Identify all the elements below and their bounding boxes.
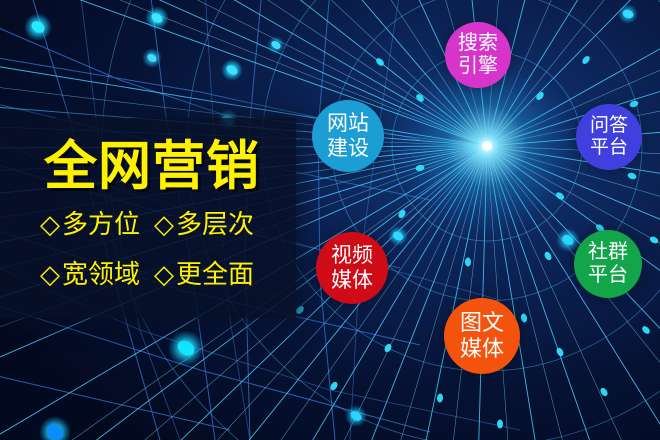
bubble-search-engine-line2: 引擎	[458, 55, 498, 78]
diamond-bullet-icon: ◇	[40, 259, 60, 289]
bubble-search-engine[interactable]: 搜索 引擎	[445, 22, 511, 88]
bubble-graphic-media-line1: 图文	[460, 310, 504, 336]
page-title: 全网营销	[44, 138, 260, 196]
bubble-website-build-line2: 建设	[327, 136, 369, 161]
diamond-bullet-icon: ◇	[40, 209, 60, 239]
bubble-search-engine-line1: 搜索	[458, 32, 498, 55]
bubble-qa-platform-line1: 问答	[590, 115, 628, 137]
bubble-website-build[interactable]: 网站 建设	[312, 100, 384, 172]
subtitle-label-multi-layered: 多层次	[176, 209, 254, 239]
subtitle-label-more-comprehensive: 更全面	[176, 259, 254, 289]
subtitle-line-1: ◇多方位◇多层次	[40, 209, 254, 239]
bubble-video-media-line2: 媒体	[331, 268, 373, 293]
bubble-graphic-media[interactable]: 图文 媒体	[444, 298, 520, 374]
bubble-qa-platform-line2: 平台	[590, 137, 628, 159]
bubble-group-platform-line1: 社群	[588, 241, 628, 264]
diamond-bullet-icon: ◇	[154, 209, 174, 239]
bubble-graphic-media-line2: 媒体	[460, 336, 504, 362]
bubble-video-media[interactable]: 视频 媒体	[316, 232, 388, 304]
bubble-group-platform-line2: 平台	[588, 264, 628, 287]
bubble-website-build-line1: 网站	[327, 111, 369, 136]
bubble-qa-platform[interactable]: 问答 平台	[576, 104, 642, 170]
diamond-bullet-icon: ◇	[154, 259, 174, 289]
bubble-video-media-line1: 视频	[331, 243, 373, 268]
subtitle-line-2: ◇宽领域◇更全面	[40, 259, 254, 289]
subtitle-label-multi-dimensional: 多方位	[62, 209, 140, 239]
bubble-group-platform[interactable]: 社群 平台	[574, 230, 642, 298]
marketing-banner: 全网营销 ◇多方位◇多层次 ◇宽领域◇更全面 搜索 引擎 网站 建设 问答 平台…	[0, 0, 660, 440]
subtitle-label-wide-field: 宽领域	[62, 259, 140, 289]
